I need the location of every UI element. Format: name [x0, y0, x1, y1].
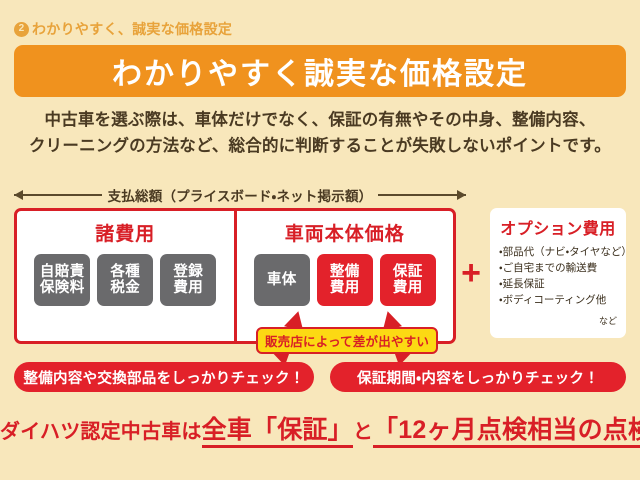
chip-compulsory-insurance: 自賠責 保険料: [34, 254, 90, 306]
list-item: ・ボディコーティング他: [499, 293, 617, 309]
misc-fees-heading: 諸費用: [95, 219, 155, 246]
lead-paragraph: 中古車を選ぶ際は、車体だけでなく、保証の有無やその中身、整備内容、 クリーニング…: [22, 108, 618, 159]
dealer-difference-callout: 販売店によって差が出やすい: [256, 327, 438, 354]
tagline-highlight-warranty: 全車「保証」: [202, 416, 353, 448]
chip-line-2: 税金: [110, 280, 140, 296]
chip-various-taxes: 各種 税金: [97, 254, 153, 306]
plus-icon: +: [458, 260, 484, 286]
misc-fees-column: 諸費用 自賠責 保険料 各種 税金 登録 費用: [17, 211, 237, 341]
chip-line-1: 自賠責: [40, 264, 85, 280]
vehicle-price-chips: 車体 整備 費用 保証 費用: [254, 254, 436, 306]
arrow-right-icon: [378, 190, 466, 200]
option-fees-box: オプション費用 ・部品代（ナビ・タイヤなど） ・ご自宅までの輸送費 ・延長保証 …: [490, 208, 626, 338]
list-item: ・延長保証: [499, 277, 617, 293]
chip-vehicle-body: 車体: [254, 254, 310, 306]
tagline-highlight-inspection: 「12ヶ月点検相当の点検・整備」: [373, 416, 640, 448]
option-fees-heading: オプション費用: [499, 215, 617, 239]
page-title-bar: わかりやすく誠実な価格設定: [14, 45, 626, 97]
banner-check-maintenance: 整備内容や交換部品をしっかりチェック！: [14, 362, 314, 392]
chip-warranty-fee: 保証 費用: [380, 254, 436, 306]
lead-line-2: クリーニングの方法など、総合的に判断することが失敗しないポイントです。: [22, 134, 618, 160]
list-item: ・ご自宅までの輸送費: [499, 261, 617, 277]
tagline-middle: と: [353, 421, 373, 443]
misc-fees-chips: 自賠責 保険料 各種 税金 登録 費用: [34, 254, 216, 306]
page-title: わかりやすく誠実な価格設定: [112, 49, 528, 93]
chip-line-1: 保証: [393, 264, 423, 280]
section-eyebrow: 2 わかりやすく、誠実な価格設定: [14, 19, 232, 39]
chip-line-1: 登録: [173, 264, 203, 280]
section-eyebrow-label: わかりやすく、誠実な価格設定: [32, 19, 232, 39]
list-item: ・部品代（ナビ・タイヤなど）: [499, 245, 617, 261]
chip-line-2: 費用: [330, 280, 360, 296]
lead-line-1: 中古車を選ぶ際は、車体だけでなく、保証の有無やその中身、整備内容、: [22, 108, 618, 134]
chip-line-2: 費用: [173, 280, 203, 296]
infographic-page: 2 わかりやすく、誠実な価格設定 わかりやすく誠実な価格設定 中古車を選ぶ際は、…: [0, 0, 640, 480]
option-fees-list: ・部品代（ナビ・タイヤなど） ・ご自宅までの輸送費 ・延長保証 ・ボディコーティ…: [499, 245, 617, 309]
chip-line-2: 費用: [393, 280, 423, 296]
total-payment-label: 支払総額（プライスボード・ネット掲示額）: [108, 185, 373, 205]
bottom-tagline: ダイハツ認定中古車は全車「保証」と「12ヶ月点検相当の点検・整備」付き: [0, 410, 640, 446]
section-number-badge: 2: [14, 22, 29, 37]
total-payment-arrow-row: 支払総額（プライスボード・ネット掲示額）: [14, 184, 466, 206]
chip-line-1: 車体: [267, 272, 297, 288]
chip-registration-fee: 登録 費用: [160, 254, 216, 306]
chip-line-2: 保険料: [40, 280, 85, 296]
banner-check-warranty: 保証期間・内容をしっかりチェック！: [330, 362, 626, 392]
vehicle-price-heading: 車両本体価格: [285, 219, 405, 246]
arrow-left-icon: [14, 190, 102, 200]
chip-line-1: 各種: [110, 264, 140, 280]
option-fees-etc: など: [499, 314, 617, 327]
vehicle-price-column: 車両本体価格 車体 整備 費用 保証 費用: [237, 211, 454, 341]
chip-line-1: 整備: [330, 264, 360, 280]
chip-maintenance-fee: 整備 費用: [317, 254, 373, 306]
tagline-prefix: ダイハツ認定中古車は: [0, 421, 202, 443]
